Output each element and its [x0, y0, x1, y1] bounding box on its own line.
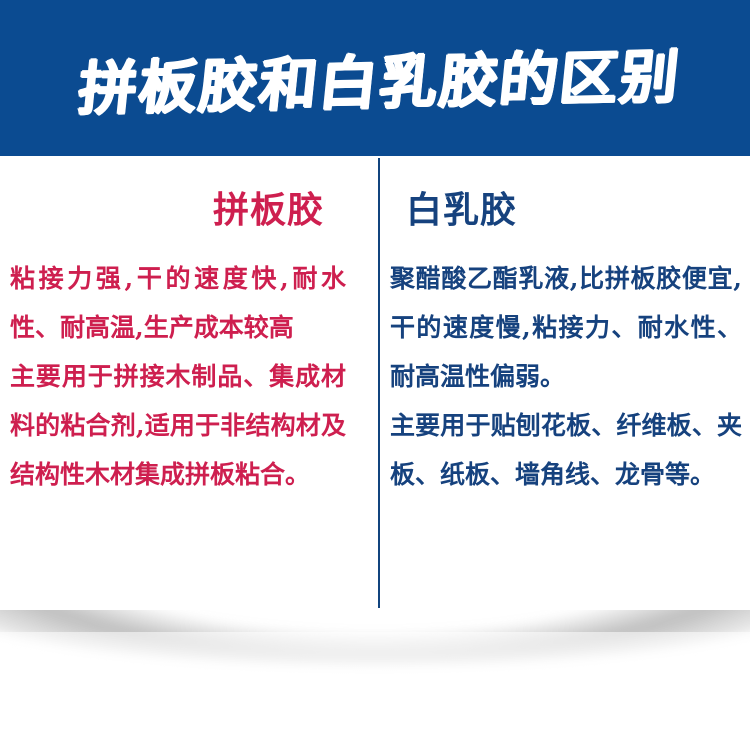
- page-title: 拼板胶和白乳胶的区别: [0, 0, 750, 156]
- left-paragraph-2: 主要用于拼接木制品、集成材料的粘合剂,适用于非结构材及结构性木材集成拼板粘合。: [10, 352, 346, 499]
- shadow-fade-overlay: [0, 632, 750, 738]
- column-pin-ban-jiao: 拼板胶 粘接力强,干的速度快,耐水性、耐高温,生产成本较高 主要用于拼接木制品、…: [0, 156, 378, 499]
- column-divider: [378, 158, 380, 608]
- column-text-left: 粘接力强,干的速度快,耐水性、耐高温,生产成本较高 主要用于拼接木制品、集成材料…: [10, 232, 346, 499]
- right-paragraph-1: 聚醋酸乙酯乳液,比拼板胶便宜,干的速度慢,粘接力、耐水性、耐高温性偏弱。: [390, 254, 742, 401]
- column-heading-right: 白乳胶: [390, 156, 742, 232]
- column-heading-left: 拼板胶: [10, 156, 346, 232]
- column-text-right: 聚醋酸乙酯乳液,比拼板胶便宜,干的速度慢,粘接力、耐水性、耐高温性偏弱。 主要用…: [390, 232, 742, 499]
- title-banner: 拼板胶和白乳胶的区别: [0, 0, 750, 156]
- comparison-body: 拼板胶 粘接力强,干的速度快,耐水性、耐高温,生产成本较高 主要用于拼接木制品、…: [0, 156, 750, 610]
- comparison-infographic: 拼板胶和白乳胶的区别 拼板胶 粘接力强,干的速度快,耐水性、耐高温,生产成本较高…: [0, 0, 750, 738]
- left-paragraph-1: 粘接力强,干的速度快,耐水性、耐高温,生产成本较高: [10, 254, 346, 352]
- bottom-shadow-area: [0, 610, 750, 738]
- column-bai-ru-jiao: 白乳胶 聚醋酸乙酯乳液,比拼板胶便宜,干的速度慢,粘接力、耐水性、耐高温性偏弱。…: [380, 156, 750, 499]
- right-paragraph-2: 主要用于贴刨花板、纤维板、夹板、纸板、墙角线、龙骨等。: [390, 401, 742, 499]
